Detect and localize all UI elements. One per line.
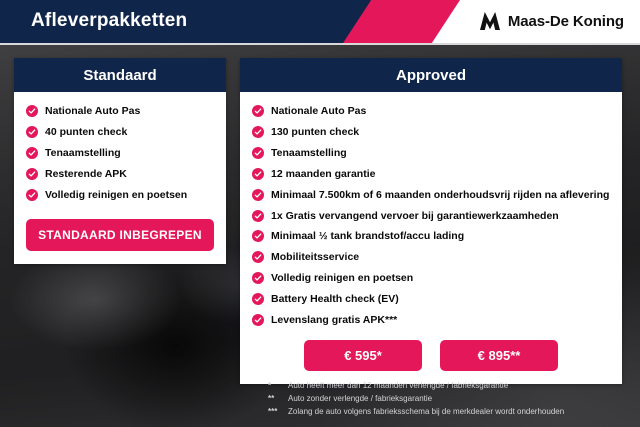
check-circle-icon <box>252 147 264 159</box>
header-divider <box>0 43 640 45</box>
standaard-feature-item-label: 40 punten check <box>45 125 127 140</box>
approved-feature-item-label: 130 punten check <box>271 125 359 140</box>
standaard-card-header: Standaard <box>14 58 226 92</box>
approved-feature-item: Battery Health check (EV) <box>252 292 610 307</box>
footnote-marker: * <box>268 380 288 391</box>
approved-card-title: Approved <box>396 67 466 84</box>
standaard-card: Standaard Nationale Auto Pas40 punten ch… <box>14 58 226 264</box>
standaard-feature-item: 40 punten check <box>26 125 214 140</box>
footnote-text: Auto heeft meer dan 12 maanden verlengde… <box>288 380 508 391</box>
brand-lockup: Maas-De Koning <box>479 11 624 31</box>
footnote-text: Zolang de auto volgens fabrieksschema bi… <box>288 406 564 417</box>
approved-feature-item: Mobiliteitsservice <box>252 250 610 265</box>
approved-feature-item: 1x Gratis vervangend vervoer bij garanti… <box>252 209 610 224</box>
approved-feature-item-label: Minimaal 7.500km of 6 maanden onderhouds… <box>271 188 609 203</box>
standaard-inbegrepen-button[interactable]: STANDAARD INBEGREPEN <box>26 219 214 251</box>
check-circle-icon <box>26 168 38 180</box>
approved-feature-item: Volledig reinigen en poetsen <box>252 271 610 286</box>
footnote-row: ***Zolang de auto volgens fabrieksschema… <box>268 406 628 417</box>
approved-feature-item: Minimaal 7.500km of 6 maanden onderhouds… <box>252 188 610 203</box>
approved-feature-item-label: Levenslang gratis APK*** <box>271 313 397 328</box>
standaard-card-body: Nationale Auto Pas40 punten checkTenaams… <box>14 92 226 264</box>
approved-feature-item: Minimaal ½ tank brandstof/accu lading <box>252 229 610 244</box>
standaard-card-title: Standaard <box>83 67 156 84</box>
check-circle-icon <box>252 314 264 326</box>
standaard-feature-item-label: Resterende APK <box>45 167 127 182</box>
approved-feature-item-label: Tenaamstelling <box>271 146 347 161</box>
check-circle-icon <box>26 147 38 159</box>
approved-feature-item-label: 1x Gratis vervangend vervoer bij garanti… <box>271 209 559 224</box>
check-circle-icon <box>252 168 264 180</box>
approved-feature-item-label: Nationale Auto Pas <box>271 104 366 119</box>
footnote-row: *Auto heeft meer dan 12 maanden verlengd… <box>268 380 628 391</box>
brand-name: Maas-De Koning <box>508 13 624 30</box>
approved-card: Approved Nationale Auto Pas130 punten ch… <box>240 58 622 384</box>
check-circle-icon <box>252 210 264 222</box>
approved-feature-item-label: Battery Health check (EV) <box>271 292 399 307</box>
footnote-text: Auto zonder verlengde / fabrieksgarantie <box>288 393 432 404</box>
approved-feature-item-label: Volledig reinigen en poetsen <box>271 271 413 286</box>
approved-feature-item: 130 punten check <box>252 125 610 140</box>
price-button-2[interactable]: € 895** <box>440 340 558 371</box>
footnote-marker: *** <box>268 406 288 417</box>
approved-feature-item: Nationale Auto Pas <box>252 104 610 119</box>
price-button-1[interactable]: € 595* <box>304 340 422 371</box>
footnote-row: **Auto zonder verlengde / fabrieksgarant… <box>268 393 628 404</box>
standaard-feature-list: Nationale Auto Pas40 punten checkTenaams… <box>26 104 214 203</box>
standaard-feature-item-label: Volledig reinigen en poetsen <box>45 188 187 203</box>
check-circle-icon <box>252 105 264 117</box>
check-circle-icon <box>252 272 264 284</box>
page-title: Afleverpakketten <box>31 10 187 32</box>
approved-card-header: Approved <box>240 58 622 92</box>
standaard-feature-item: Resterende APK <box>26 167 214 182</box>
approved-feature-item: Tenaamstelling <box>252 146 610 161</box>
approved-price-row: € 595*€ 895** <box>252 340 610 371</box>
footnote-marker: ** <box>268 393 288 404</box>
maas-de-koning-m-logo-icon <box>479 11 501 31</box>
check-circle-icon <box>26 189 38 201</box>
approved-feature-item: Levenslang gratis APK*** <box>252 313 610 328</box>
check-circle-icon <box>26 105 38 117</box>
approved-feature-item: 12 maanden garantie <box>252 167 610 182</box>
approved-feature-item-label: Minimaal ½ tank brandstof/accu lading <box>271 229 464 244</box>
check-circle-icon <box>252 189 264 201</box>
standaard-feature-item-label: Tenaamstelling <box>45 146 121 161</box>
check-circle-icon <box>252 251 264 263</box>
slide-canvas: Afleverpakketten Maas-De Koning Standaar… <box>0 0 640 427</box>
standaard-feature-item: Volledig reinigen en poetsen <box>26 188 214 203</box>
approved-feature-list: Nationale Auto Pas130 punten checkTenaam… <box>252 104 610 328</box>
approved-feature-item-label: Mobiliteitsservice <box>271 250 359 265</box>
approved-feature-item-label: 12 maanden garantie <box>271 167 375 182</box>
footnote-block: *Auto heeft meer dan 12 maanden verlengd… <box>268 380 628 419</box>
check-circle-icon <box>26 126 38 138</box>
check-circle-icon <box>252 293 264 305</box>
check-circle-icon <box>252 126 264 138</box>
standaard-feature-item: Tenaamstelling <box>26 146 214 161</box>
header-bar: Afleverpakketten Maas-De Koning <box>0 0 640 44</box>
approved-card-body: Nationale Auto Pas130 punten checkTenaam… <box>240 92 622 384</box>
standaard-feature-item-label: Nationale Auto Pas <box>45 104 140 119</box>
standaard-feature-item: Nationale Auto Pas <box>26 104 214 119</box>
check-circle-icon <box>252 230 264 242</box>
